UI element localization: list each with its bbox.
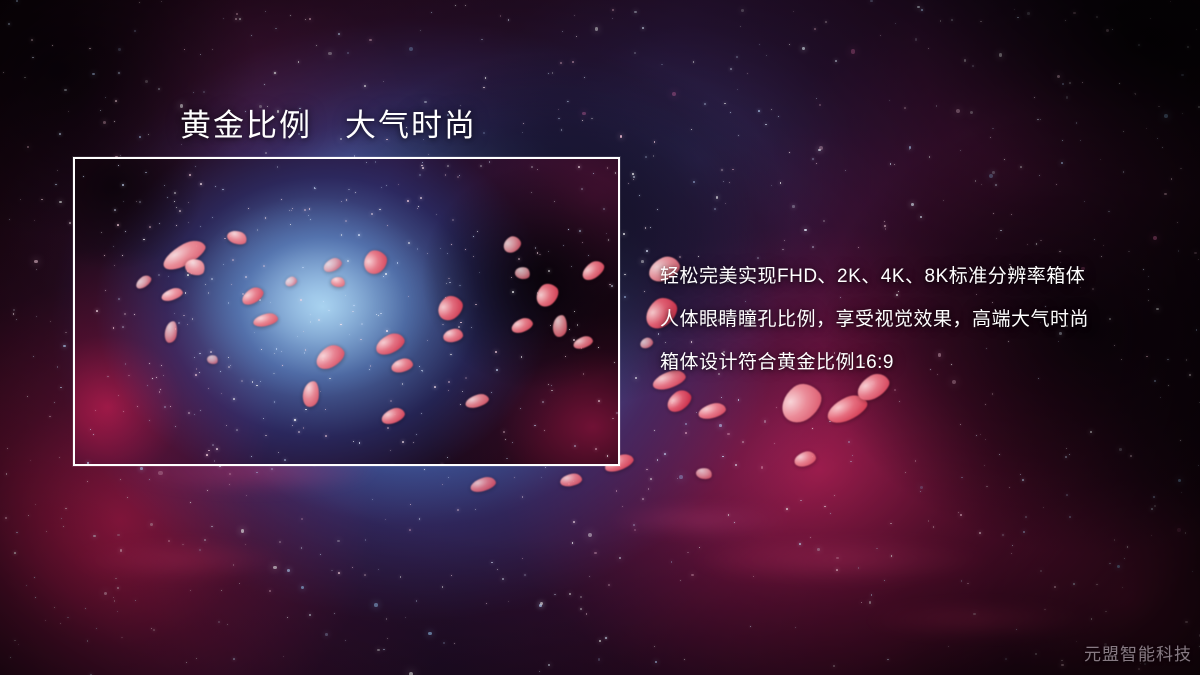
page-title: 黄金比例 大气时尚 <box>180 100 477 145</box>
body-line-2: 人体眼睛瞳孔比例，享受视觉效果，高端大气时尚 <box>660 298 1089 341</box>
petal <box>469 475 498 495</box>
petal <box>697 401 728 421</box>
body-line-1: 轻松完美实现FHD、2K、4K、8K标准分辨率箱体 <box>660 255 1089 298</box>
slide-canvas: 黄金比例 大气时尚 轻松完美实现FHD、2K、4K、8K标准分辨率箱体 人体眼睛… <box>0 0 1200 675</box>
petal <box>695 467 713 481</box>
petal <box>663 386 695 415</box>
petal <box>792 449 817 469</box>
body-line-3: 箱体设计符合黄金比例16:9 <box>660 341 1089 384</box>
framed-galaxy-image <box>73 157 620 466</box>
petal <box>774 377 828 430</box>
petal <box>823 390 870 427</box>
petal <box>559 472 583 488</box>
petal <box>639 336 655 350</box>
watermark-brand: 元盟智能科技 <box>1084 640 1192 665</box>
panel-starfield <box>75 159 618 464</box>
body-text-block: 轻松完美实现FHD、2K、4K、8K标准分辨率箱体 人体眼睛瞳孔比例，享受视觉效… <box>660 255 1089 384</box>
